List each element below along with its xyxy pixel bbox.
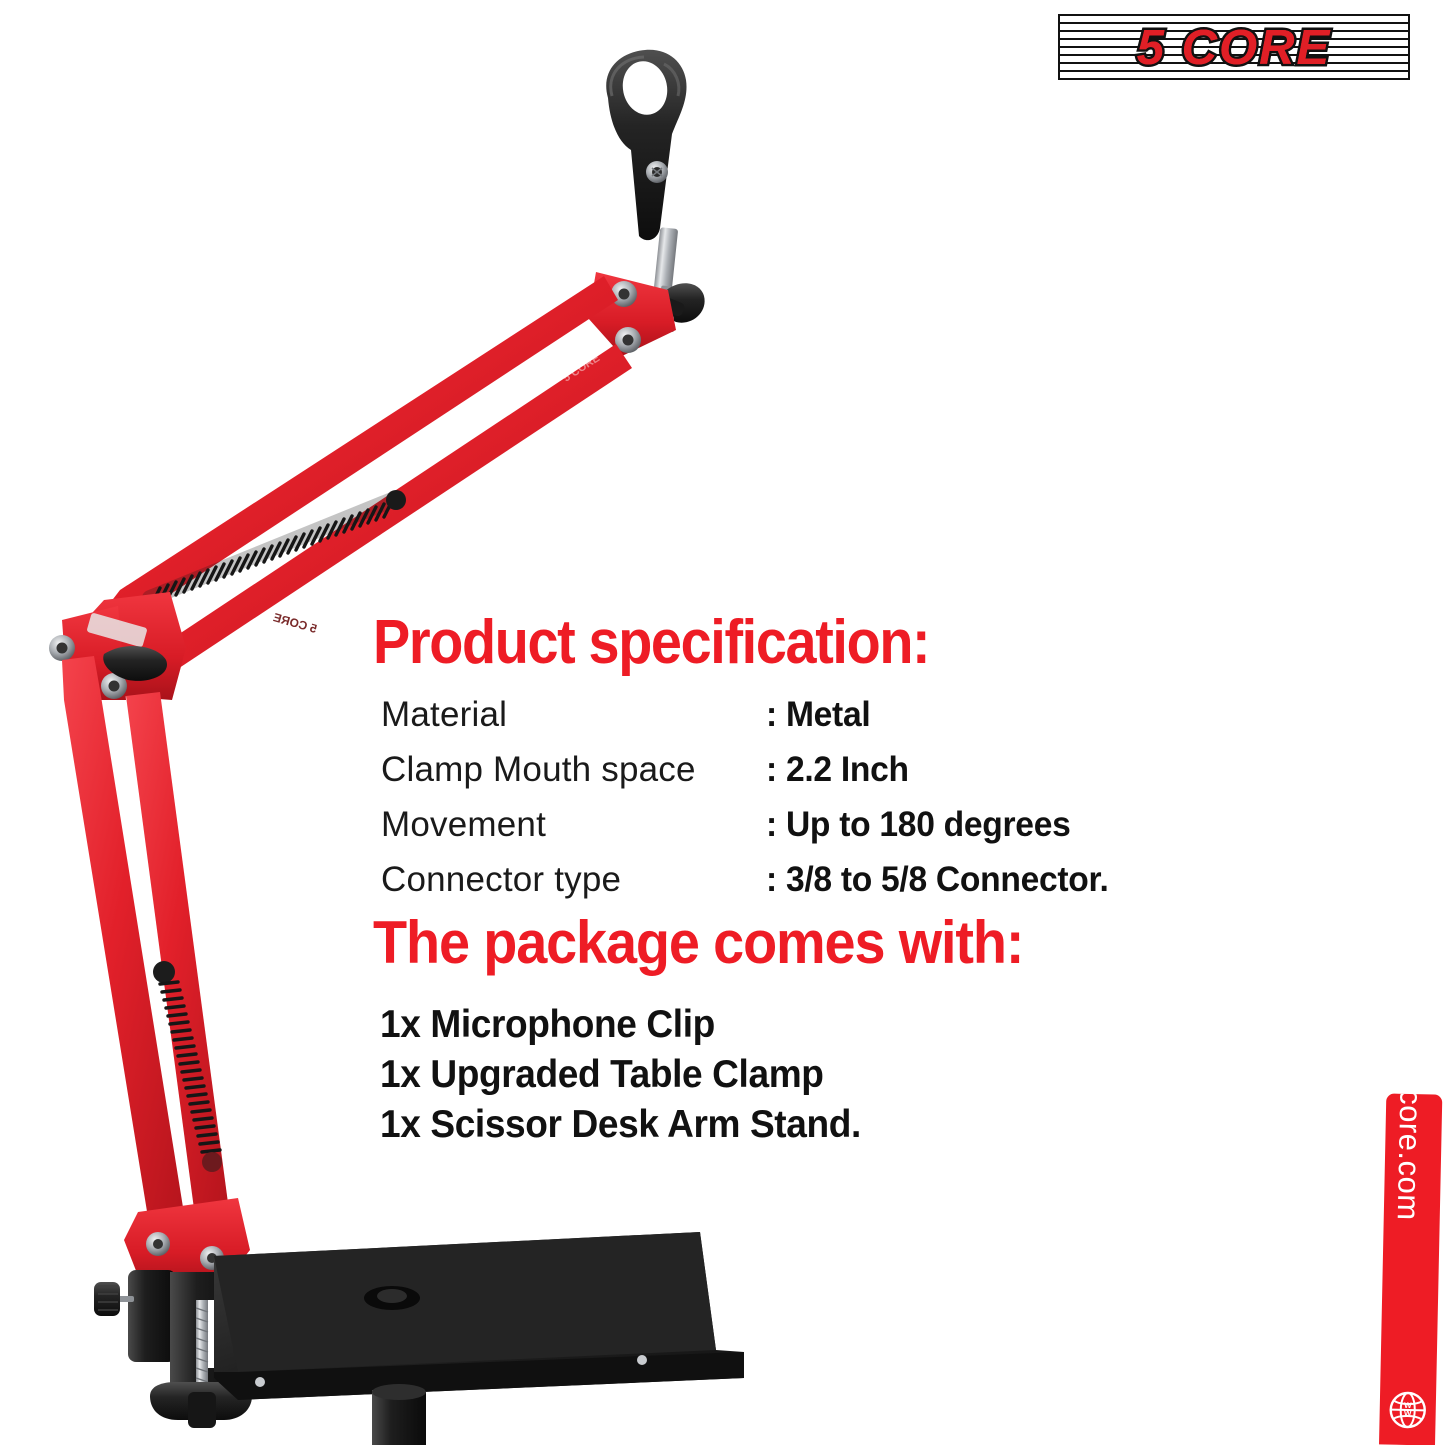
spec-label: Material [381,695,766,735]
svg-text:5 CORE: 5 CORE [272,610,319,636]
website-banner: www.5core.com W W [1379,1093,1442,1445]
spec-value: : Up to 180 degrees [766,805,1071,845]
spec-value: : Metal [766,695,870,735]
logo-wordmark: 5 CORE 5 CORE [1058,14,1410,80]
spec-heading: Product specification: [373,607,929,678]
spec-row: Connector type : 3/8 to 5/8 Connector. [381,860,1211,915]
package-item: 1x Microphone Clip [380,1000,861,1050]
svg-text:W: W [1404,1409,1412,1418]
spec-value: : 3/8 to 5/8 Connector. [766,860,1109,900]
package-item: 1x Upgraded Table Clamp [380,1050,861,1100]
website-url: www.5core.com [1390,1093,1431,1221]
spec-row: Clamp Mouth space : 2.2 Inch [381,750,1211,805]
brand-logo: 5 CORE 5 CORE [1058,14,1410,80]
package-list: 1x Microphone Clip 1x Upgraded Table Cla… [380,1000,886,1150]
spec-value: : 2.2 Inch [766,750,909,790]
spec-row: Movement : Up to 180 degrees [381,805,1211,860]
spec-row: Material : Metal [381,695,1211,750]
product-infographic: 5 CORE 5 CORE [0,0,1445,1445]
speaker-stand-platform [214,1232,744,1445]
spec-table: Material : Metal Clamp Mouth space : 2.2… [381,695,1211,915]
spec-label: Movement [381,805,766,845]
package-item: 1x Scissor Desk Arm Stand. [380,1100,861,1150]
package-heading: The package comes with: [373,908,1023,977]
spec-label: Connector type [381,860,766,900]
www-globe-icon: W W [1386,1389,1429,1432]
microphone-clip [606,50,686,240]
spec-label: Clamp Mouth space [381,750,766,790]
svg-text:5 CORE: 5 CORE [1137,21,1331,75]
